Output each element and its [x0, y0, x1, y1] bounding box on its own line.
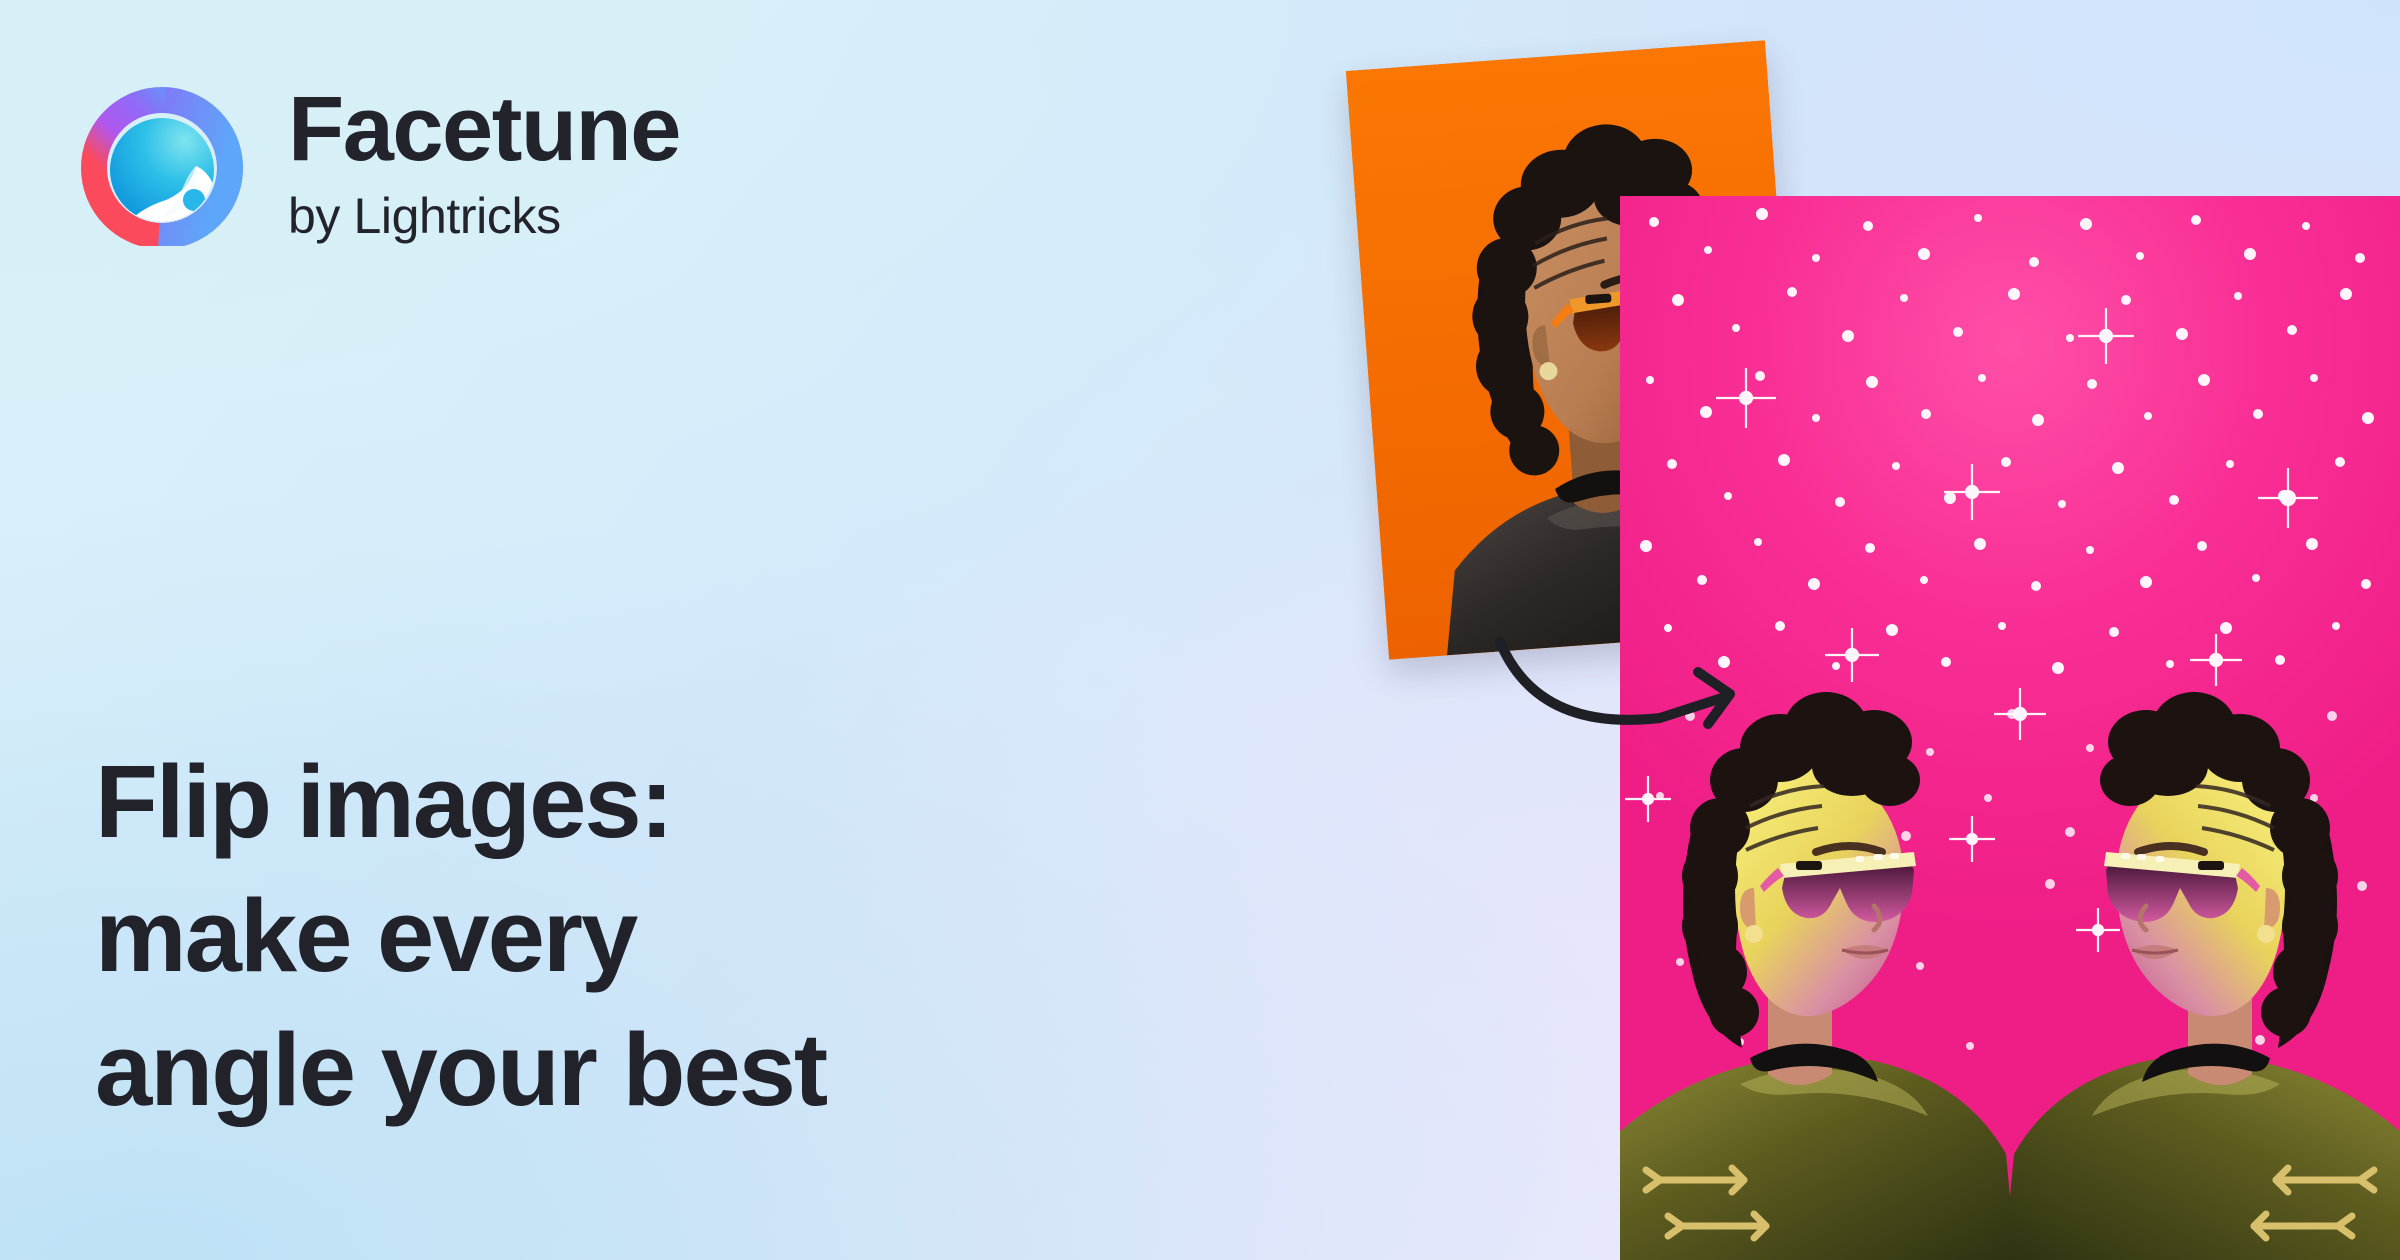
- brand-logo: Facetune by Lightricks: [78, 78, 680, 246]
- brand-subtitle: by Lightricks: [288, 191, 680, 241]
- brand-title: Facetune: [288, 83, 680, 175]
- curved-flip-arrow: [1330, 600, 1770, 770]
- promo-banner: Facetune by Lightricks Flip images: make…: [0, 0, 2400, 1260]
- flipped-portrait-right: [2010, 660, 2400, 1260]
- page-headline: Flip images: make every angle your best: [95, 735, 826, 1137]
- brand-logo-text: Facetune by Lightricks: [288, 83, 680, 241]
- flipped-portrait-right-illustration: [2010, 660, 2400, 1260]
- facetune-app-icon: [78, 78, 246, 246]
